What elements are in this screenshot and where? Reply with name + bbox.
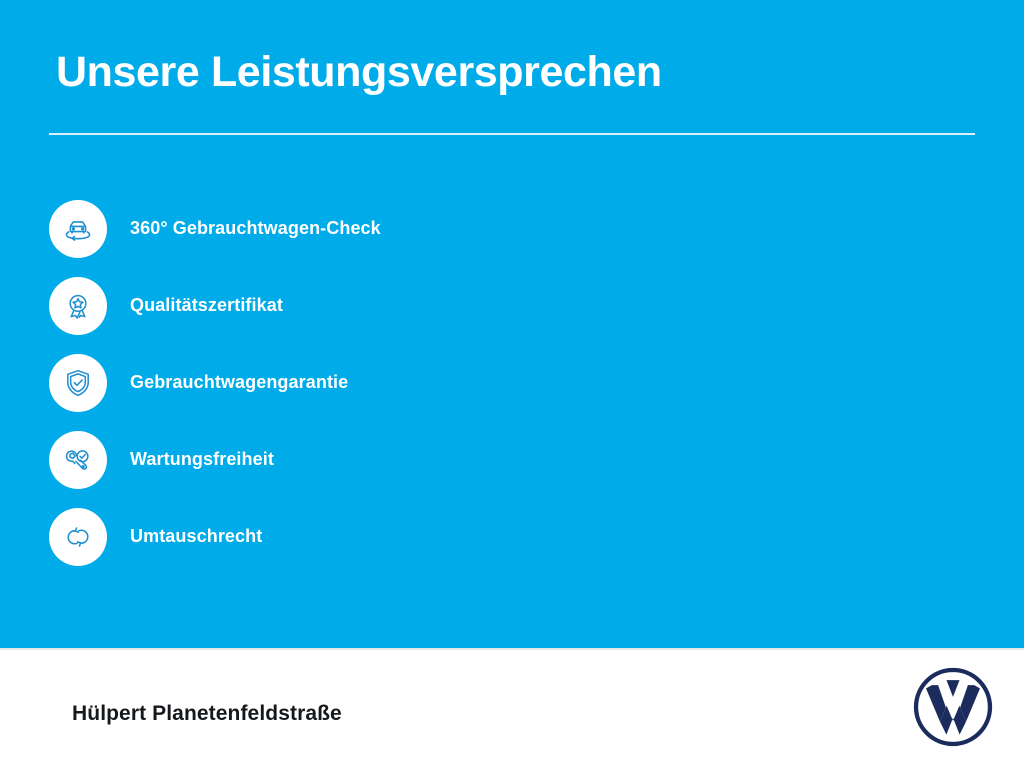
title-divider xyxy=(49,133,975,135)
feature-label: Gebrauchtwagengarantie xyxy=(130,372,348,393)
feature-item-umtauschrecht[interactable]: Umtauschrecht xyxy=(49,498,453,575)
footer-bar: Hülpert Planetenfeldstraße xyxy=(0,648,1024,768)
feature-column-right: Finanzdienstleistungen xyxy=(453,190,1024,575)
feature-item-finanzdienstleistungen[interactable]: Finanzdienstleistungen xyxy=(453,190,1024,267)
vw-logo-icon xyxy=(910,664,996,750)
award-rosette-icon xyxy=(61,289,95,323)
feature-column-left: 360° Gebrauchtwagen-Check Qualitätszerti… xyxy=(0,190,453,575)
feature-label: Wartungsfreiheit xyxy=(130,449,274,470)
wrench-check-icon xyxy=(61,443,95,477)
hero-panel: Unsere Leistungsversprechen xyxy=(0,0,1024,648)
feature-item-versicherungsangebote[interactable]: Versicherungsangebote xyxy=(453,267,1024,344)
feature-item-wartungsfreiheit[interactable]: Wartungsfreiheit xyxy=(49,421,453,498)
feature-item-mobilitaetsgarantie[interactable]: Mobilitätsgarantie xyxy=(453,421,1024,498)
feature-badge xyxy=(49,354,107,412)
feature-item-inzahlungnahme[interactable]: Inzahlungnahme xyxy=(453,344,1024,421)
dealer-name: Hülpert Planetenfeldstraße xyxy=(72,702,342,726)
feature-label: Umtauschrecht xyxy=(130,526,262,547)
feature-grid: 360° Gebrauchtwagen-Check Qualitätszerti… xyxy=(0,190,1024,575)
feature-item-gebrauchtwagengarantie[interactable]: Gebrauchtwagengarantie xyxy=(49,344,453,421)
feature-badge xyxy=(49,431,107,489)
feature-label: Qualitätszertifikat xyxy=(130,295,283,316)
page-title: Unsere Leistungsversprechen xyxy=(56,50,662,95)
slide-root: Unsere Leistungsversprechen xyxy=(0,0,1024,768)
feature-badge xyxy=(49,508,107,566)
feature-item-qualitaetszertifikat[interactable]: Qualitätszertifikat xyxy=(49,267,453,344)
exchange-arrows-icon xyxy=(61,520,95,554)
shield-check-icon xyxy=(61,366,95,400)
feature-label: 360° Gebrauchtwagen-Check xyxy=(130,218,381,239)
car-360-check-icon xyxy=(61,212,95,246)
feature-badge xyxy=(49,277,107,335)
feature-badge xyxy=(49,200,107,258)
feature-item-ersatzmobilitaet[interactable]: Ersatzmobilität xyxy=(453,498,1024,575)
volkswagen-logo xyxy=(910,664,996,750)
feature-item-gebrauchtwagen-check[interactable]: 360° Gebrauchtwagen-Check xyxy=(49,190,453,267)
